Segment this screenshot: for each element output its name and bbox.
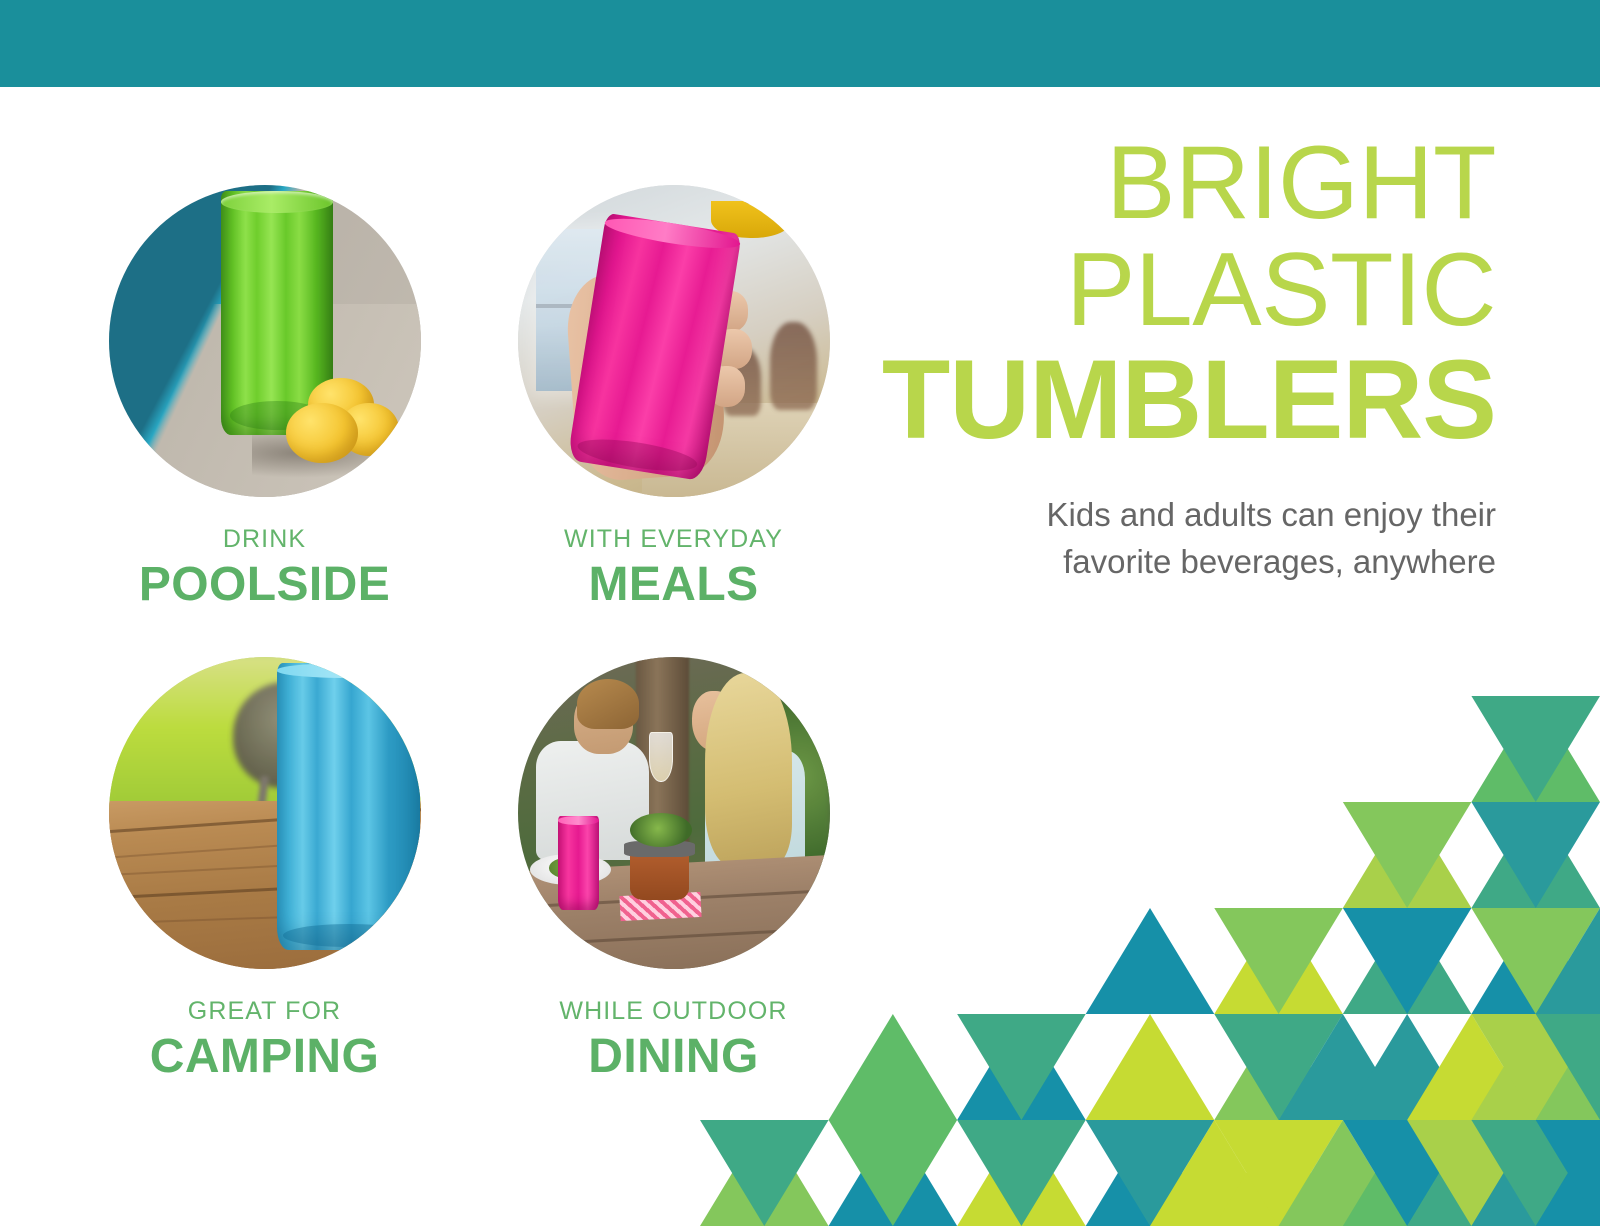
top-accent-band <box>0 0 1600 87</box>
mosaic-triangle-up <box>1279 1014 1408 1120</box>
mosaic-triangle-down <box>1214 1120 1343 1226</box>
mosaic-triangle-up <box>829 1120 958 1226</box>
mosaic-triangle-up <box>1343 1120 1472 1226</box>
mosaic-triangle-up <box>1343 802 1472 908</box>
mosaic-triangle-up <box>700 1120 829 1226</box>
caption-dining: WHILE OUTDOOR DINING <box>559 999 787 1081</box>
mosaic-triangle-down <box>1471 696 1600 802</box>
mosaic-triangle-down <box>1214 908 1343 1014</box>
caption-big-dining: DINING <box>559 1033 787 1081</box>
meals-scene <box>518 185 830 497</box>
mosaic-triangle-down <box>1471 908 1600 1014</box>
mosaic-triangle-up <box>1471 802 1600 908</box>
pink-tumbler-meals-photo[interactable] <box>518 185 830 497</box>
mosaic-triangle-up <box>957 1120 1086 1226</box>
feature-grid: DRINK POOLSIDE <box>104 185 834 1081</box>
mosaic-triangle-up <box>1536 1014 1600 1120</box>
feature-camping[interactable]: GREAT FOR CAMPING <box>104 657 425 1081</box>
mosaic-triangle-up <box>1407 1120 1536 1226</box>
mosaic-triangle-up <box>1343 1014 1472 1120</box>
subtitle: Kids and adults can enjoy their favorite… <box>816 492 1496 586</box>
headline-line-2: PLASTIC <box>816 237 1496 344</box>
blue-tumbler-camping-photo[interactable] <box>109 657 421 969</box>
poster-page: DRINK POOLSIDE <box>0 0 1600 1226</box>
caption-big-meals: MEALS <box>564 561 783 609</box>
mosaic-triangle-up <box>1214 908 1343 1014</box>
mosaic-triangle-down <box>957 1014 1086 1120</box>
mosaic-triangle-up <box>1536 1120 1600 1226</box>
caption-small-meals: WITH EVERYDAY <box>564 527 783 552</box>
mosaic-triangle-down <box>700 1120 829 1226</box>
mosaic-triangle-up <box>957 1014 1086 1120</box>
mosaic-triangle-down <box>1471 1014 1600 1120</box>
green-tumbler-poolside-photo[interactable] <box>109 185 421 497</box>
mosaic-triangle-down <box>1343 1120 1472 1226</box>
feature-dining[interactable]: WHILE OUTDOOR DINING <box>513 657 834 1081</box>
mosaic-triangle-up <box>1471 908 1600 1014</box>
mosaic-triangle-up <box>1536 908 1600 1014</box>
mosaic-triangle-down <box>1407 1120 1536 1226</box>
feature-row-bottom: GREAT FOR CAMPING <box>104 657 834 1081</box>
mosaic-triangle-up <box>1407 1014 1536 1120</box>
subtitle-line-2: favorite beverages, anywhere <box>816 539 1496 586</box>
mosaic-triangle-up <box>1279 1120 1408 1226</box>
caption-small-poolside: DRINK <box>139 527 390 552</box>
mosaic-triangle-down <box>829 1120 958 1226</box>
caption-poolside: DRINK POOLSIDE <box>139 527 390 609</box>
mosaic-triangle-down <box>957 1120 1086 1226</box>
feature-meals[interactable]: WITH EVERYDAY MEALS <box>513 185 834 609</box>
mosaic-triangle-down <box>1343 802 1472 908</box>
caption-small-dining: WHILE OUTDOOR <box>559 999 787 1024</box>
camping-scene <box>109 657 421 969</box>
mosaic-triangle-up <box>1471 1014 1600 1120</box>
mosaic-triangle-down <box>1086 1120 1215 1226</box>
mosaic-triangle-up <box>1214 1120 1343 1226</box>
headline-block: BRIGHT PLASTIC TUMBLERS Kids and adults … <box>816 130 1496 586</box>
mosaic-triangle-up <box>1086 908 1215 1014</box>
mosaic-triangle-down <box>1471 1120 1600 1226</box>
poolside-scene <box>109 185 421 497</box>
feature-poolside[interactable]: DRINK POOLSIDE <box>104 185 425 609</box>
caption-meals: WITH EVERYDAY MEALS <box>564 527 783 609</box>
caption-big-poolside: POOLSIDE <box>139 561 390 609</box>
mosaic-triangle-up <box>1150 1120 1279 1226</box>
mosaic-triangle-up <box>1086 1014 1215 1120</box>
couple-outdoor-dining-photo[interactable] <box>518 657 830 969</box>
caption-camping: GREAT FOR CAMPING <box>150 999 379 1081</box>
mosaic-triangle-up <box>1471 1120 1600 1226</box>
woman-hair <box>705 673 792 866</box>
blue-tumbler-icon <box>277 663 421 950</box>
dining-scene <box>518 657 830 969</box>
triangle-mosaic-svg <box>700 696 1600 1226</box>
caption-big-camping: CAMPING <box>150 1033 379 1081</box>
man-hair <box>577 679 639 729</box>
triangle-mosaic-decoration <box>700 696 1600 1226</box>
mosaic-triangle-up <box>1086 1120 1215 1226</box>
headline-line-1: BRIGHT <box>816 130 1496 237</box>
background-person <box>770 322 817 409</box>
subtitle-line-1: Kids and adults can enjoy their <box>816 492 1496 539</box>
feature-row-top: DRINK POOLSIDE <box>104 185 834 609</box>
mosaic-triangle-up <box>829 1014 958 1120</box>
wine-glass-icon <box>649 732 674 782</box>
pink-tumbler-icon <box>558 816 599 910</box>
lemon-icon <box>286 403 358 462</box>
mosaic-triangle-up <box>1343 908 1472 1014</box>
mosaic-triangle-down <box>1536 1014 1600 1120</box>
mosaic-triangle-down <box>1214 1014 1343 1120</box>
mosaic-triangle-down <box>1536 1120 1600 1226</box>
mosaic-triangle-up <box>1471 696 1600 802</box>
caption-small-camping: GREAT FOR <box>150 999 379 1024</box>
mosaic-triangle-down <box>1471 802 1600 908</box>
mosaic-triangle-up <box>1214 1014 1343 1120</box>
mosaic-triangle-down <box>1343 908 1472 1014</box>
headline-line-3: TUMBLERS <box>816 344 1496 456</box>
